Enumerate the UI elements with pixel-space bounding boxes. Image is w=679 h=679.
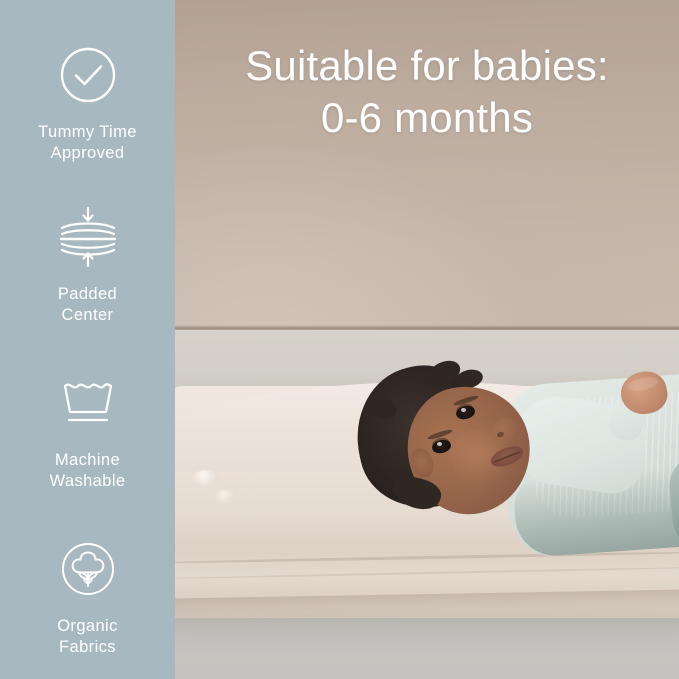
machine-wash-icon [55, 370, 121, 436]
product-feature-panel: Suitable for babies: 0-6 months Tummy Ti… [0, 0, 679, 679]
baby-nose [493, 418, 517, 442]
baby-eye-glint [437, 442, 442, 446]
feature-item-organic-fabrics: Organic Fabrics [0, 536, 175, 658]
wall-background [175, 0, 679, 331]
mat-tuft [193, 470, 219, 486]
feature-item-padded-center: Padded Center [0, 204, 175, 326]
feature-label-tummy-time-approved: Tummy Time Approved [13, 122, 163, 164]
feature-item-tummy-time-approved: Tummy Time Approved [0, 42, 175, 164]
cotton-boll-icon [55, 536, 121, 602]
baby-eye-glint [461, 408, 466, 412]
padded-cushion-icon [55, 204, 121, 270]
feature-label-organic-fabrics: Organic Fabrics [13, 616, 163, 658]
feature-item-machine-washable: Machine Washable [0, 370, 175, 492]
feature-label-machine-washable: Machine Washable [13, 450, 163, 492]
check-circle-icon [55, 42, 121, 108]
feature-sidebar: Tummy Time Approved [0, 0, 175, 679]
mat-tuft [215, 490, 237, 503]
feature-label-padded-center: Padded Center [13, 284, 163, 326]
product-photo [175, 0, 679, 679]
